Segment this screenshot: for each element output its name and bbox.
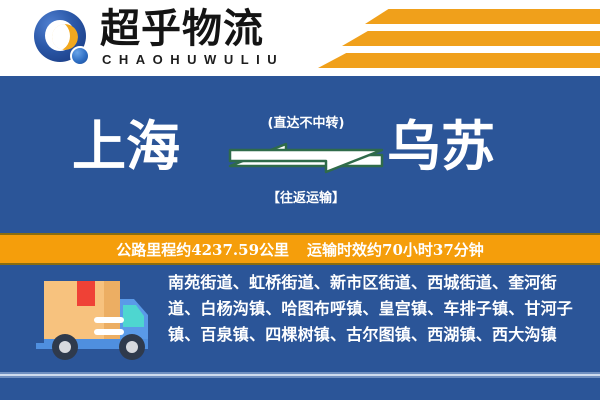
stripe-middle — [342, 31, 600, 46]
stripe-top — [365, 9, 600, 24]
distance-text: 公路里程约4237.59公里 — [116, 239, 289, 260]
duration-text: 运输时效约70小时37分钟 — [307, 239, 484, 260]
footer-fill — [0, 378, 600, 400]
logistics-route-banner: 超乎物流 CHAOHUWULIU 上海 (直达不中转) 【往返运输】 乌苏 公路… — [0, 0, 600, 400]
brand-name-pinyin: CHAOHUWULIU — [102, 52, 284, 67]
delivery-truck-icon — [22, 277, 154, 361]
coverage-section: 南苑街道、虹桥街道、新市区街道、西城街道、奎河街道、白杨沟镇、哈图布呼镇、皇宫镇… — [0, 265, 600, 372]
destination-city: 乌苏 — [387, 116, 495, 176]
direct-service-note: (直达不中转) — [236, 112, 376, 131]
route-info-bar: 公路里程约4237.59公里 运输时效约70小时37分钟 — [0, 233, 600, 265]
chaohu-circle-logo-icon — [34, 10, 96, 68]
coverage-area-list: 南苑街道、虹桥街道、新市区街道、西城街道、奎河街道、白杨沟镇、哈图布呼镇、皇宫镇… — [168, 270, 588, 348]
bidirectional-arrow-icon — [224, 136, 388, 180]
route-section: 上海 (直达不中转) 【往返运输】 乌苏 — [0, 76, 600, 233]
route-middle-group: (直达不中转) 【往返运输】 — [236, 110, 376, 210]
banner-header: 超乎物流 CHAOHUWULIU — [0, 0, 600, 76]
origin-city: 上海 — [72, 116, 180, 176]
orange-speed-stripes-icon — [310, 8, 600, 70]
logo-accent-dot — [70, 46, 90, 66]
logo-crescent-shape — [52, 24, 78, 50]
stripe-bottom — [318, 53, 600, 68]
round-trip-note: 【往返运输】 — [236, 187, 376, 206]
brand-name-chinese: 超乎物流 — [100, 6, 264, 52]
